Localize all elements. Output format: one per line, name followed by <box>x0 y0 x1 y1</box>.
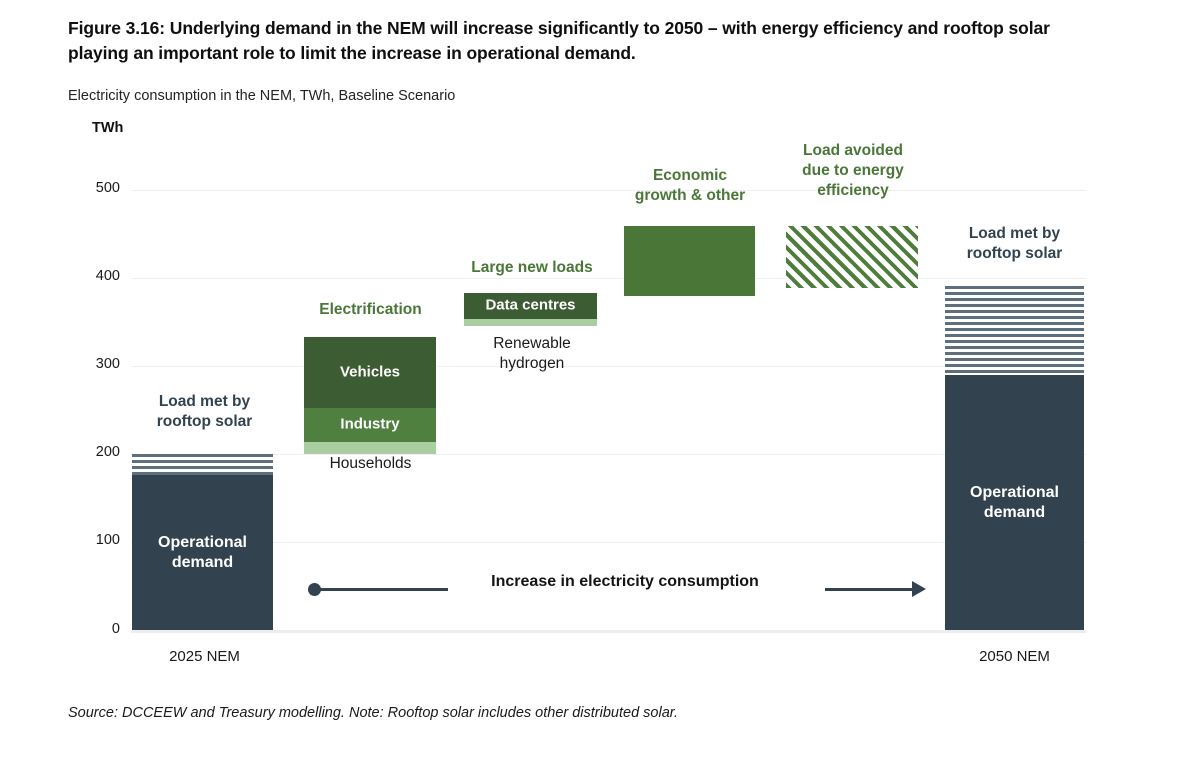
segment-rooftop-solar-2025[interactable] <box>132 454 273 475</box>
segment-label-industry: Industry <box>304 416 436 435</box>
category-label-2050-nem: 2050 NEM <box>932 648 1097 665</box>
increase-arrow-head-icon <box>912 581 926 597</box>
bar-load-avoided-energy-efficiency[interactable] <box>786 226 918 288</box>
gridline-200 <box>131 454 1086 455</box>
callout-electrification: Electrification <box>288 300 453 320</box>
figure-page: Figure 3.16: Underlying demand in the NE… <box>0 0 1200 760</box>
source-note: Source: DCCEEW and Treasury modelling. N… <box>68 705 678 721</box>
y-tick-200: 200 <box>68 444 120 460</box>
segment-economic-growth-other[interactable] <box>624 226 755 296</box>
bar-2050-nem[interactable]: Operational demand <box>945 286 1084 630</box>
segment-data-centres[interactable]: Data centres <box>464 293 597 319</box>
segment-label-operational-demand-2050: Operational demand <box>945 483 1084 523</box>
increase-arrow-line-right <box>825 588 917 591</box>
bar-economic-growth-other[interactable] <box>624 226 755 296</box>
callout-load-met-rooftop-solar-2050: Load met by rooftop solar <box>932 224 1097 264</box>
chart-plot-area: TWh 500 400 300 200 100 0 Operational de… <box>0 0 1200 760</box>
bar-large-new-loads[interactable]: Data centres <box>464 293 597 326</box>
segment-vehicles[interactable]: Vehicles <box>304 337 436 408</box>
callout-economic-growth-other: Economic growth & other <box>612 166 768 206</box>
increase-arrow-line-left <box>318 588 448 591</box>
callout-load-met-rooftop-solar-2025: Load met by rooftop solar <box>122 392 287 432</box>
y-tick-0: 0 <box>68 621 120 637</box>
callout-large-new-loads: Large new loads <box>448 258 616 278</box>
segment-households[interactable] <box>304 442 436 454</box>
gridline-400 <box>131 278 1086 279</box>
y-tick-100: 100 <box>68 532 120 548</box>
bar-electrification[interactable]: Vehicles Industry <box>304 337 436 454</box>
callout-renewable-hydrogen: Renewable hydrogen <box>448 334 616 374</box>
axis-baseline <box>131 630 1086 633</box>
segment-load-avoided-hatch[interactable] <box>786 226 918 288</box>
y-tick-400: 400 <box>68 268 120 284</box>
bar-2025-nem[interactable]: Operational demand <box>132 454 273 630</box>
gridline-500 <box>131 190 1086 191</box>
segment-industry[interactable]: Industry <box>304 408 436 442</box>
callout-load-avoided: Load avoided due to energy efficiency <box>775 141 931 200</box>
y-tick-500: 500 <box>68 180 120 196</box>
segment-renewable-hydrogen[interactable] <box>464 319 597 326</box>
callout-households: Households <box>288 454 453 474</box>
y-tick-300: 300 <box>68 356 120 372</box>
y-axis-unit-label: TWh <box>92 120 123 136</box>
increase-annotation-label: Increase in electricity consumption <box>455 573 795 591</box>
segment-label-vehicles: Vehicles <box>304 363 436 382</box>
gridline-100 <box>131 542 1086 543</box>
segment-label-data-centres: Data centres <box>464 297 597 316</box>
category-label-2025-nem: 2025 NEM <box>122 648 287 665</box>
segment-operational-demand-2025[interactable]: Operational demand <box>132 475 273 630</box>
segment-label-operational-demand-2025: Operational demand <box>132 533 273 573</box>
segment-rooftop-solar-2050[interactable] <box>945 286 1084 375</box>
segment-operational-demand-2050[interactable]: Operational demand <box>945 375 1084 630</box>
